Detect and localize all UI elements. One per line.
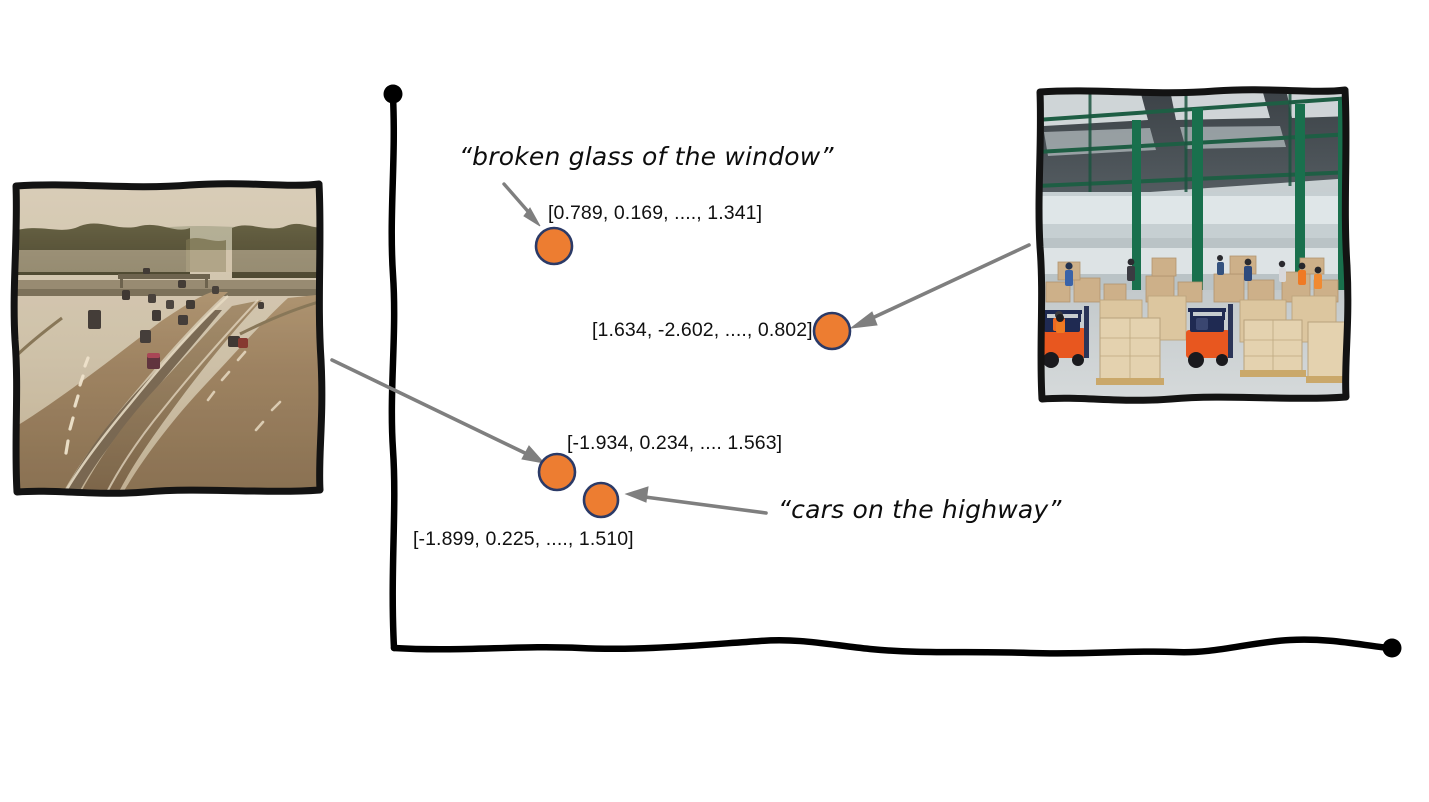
caption-cars-highway: “cars on the highway” (778, 495, 1062, 524)
diagram-canvas: “broken glass of the window” [0.789, 0.1… (0, 0, 1429, 802)
point-cars-caption (584, 483, 618, 517)
scene-svg (0, 0, 1429, 802)
arrow-caption-to-point-cars (626, 487, 766, 513)
caption-broken-glass: “broken glass of the window” (459, 142, 834, 171)
point-highway-image (539, 454, 575, 490)
point-warehouse (814, 313, 850, 349)
vector-label-highway-image: [-1.934, 0.234, .... 1.563] (567, 432, 782, 455)
arrows-group (332, 184, 1029, 513)
horizontal-axis (394, 640, 1389, 654)
image-highway (10, 182, 326, 498)
image-warehouse (1036, 86, 1352, 402)
arrow-highway-to-point (332, 360, 544, 463)
point-broken-glass (536, 228, 572, 264)
arrow-caption-to-point-glass (504, 184, 540, 226)
arrow-warehouse-to-point (851, 245, 1029, 328)
vertical-axis-cap (384, 85, 403, 104)
vector-label-warehouse: [1.634, -2.602, ...., 0.802] (592, 319, 813, 342)
vector-label-broken-glass: [0.789, 0.169, ...., 1.341] (548, 202, 762, 225)
horizontal-axis-cap (1383, 639, 1402, 658)
points-group (536, 228, 850, 517)
vector-label-cars-caption: [-1.899, 0.225, ...., 1.510] (413, 528, 634, 551)
vertical-axis (392, 97, 395, 648)
